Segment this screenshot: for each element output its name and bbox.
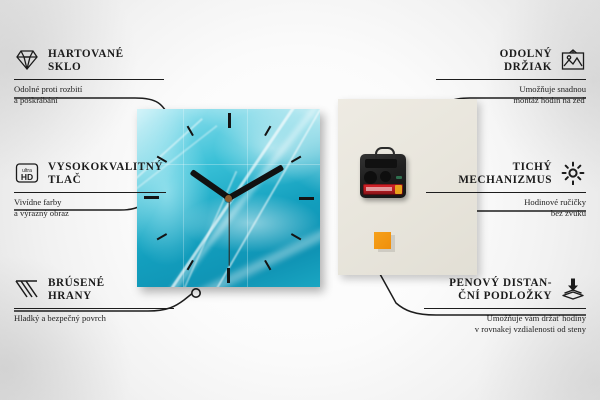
feature-foam-spacers: PENOVÝ DISTAN- ČNÍ PODLOŽKY Umožňuje vám… bbox=[424, 277, 586, 335]
feature-title: TICHÝ MECHANIZMUS bbox=[458, 161, 552, 188]
callout-dot-ground-edges bbox=[192, 289, 200, 297]
mechanism-slot bbox=[365, 159, 397, 168]
feature-silent-mechanism: TICHÝ MECHANIZMUS Hodinové ručičky bez z… bbox=[426, 161, 586, 219]
feature-subtitle: Hladký a bezpečný povrch bbox=[14, 313, 174, 324]
feature-high-quality-print: ultra HDVYSOKOKVALITNÝ TLAČVivídne farby… bbox=[14, 161, 166, 219]
picture-frame-icon bbox=[560, 48, 586, 72]
feather-streak bbox=[151, 109, 320, 287]
feature-title: PENOVÝ DISTAN- ČNÍ PODLOŽKY bbox=[449, 277, 552, 304]
clock-mechanism bbox=[360, 154, 406, 198]
battery-label bbox=[366, 187, 392, 191]
feature-divider bbox=[424, 308, 586, 309]
diamond-icon bbox=[14, 48, 40, 72]
feature-divider bbox=[14, 79, 164, 80]
feature-durable-holder: ODOLNÝ DRŽIAK Umožňuje snadnou montáž ho… bbox=[436, 48, 586, 106]
feature-subtitle: Hodinové ručičky bez zvuku bbox=[426, 197, 586, 219]
feature-subtitle: Umožňuje vám držať hodiny v rovnakej vzd… bbox=[424, 313, 586, 335]
foam-spacer-pad bbox=[374, 232, 391, 249]
mechanism-led bbox=[396, 176, 402, 179]
feature-divider bbox=[426, 192, 586, 193]
feature-subtitle: Vivídne farby a výrazný obraz bbox=[14, 197, 166, 219]
mechanism-knob bbox=[364, 171, 377, 184]
feature-title: VYSOKOKVALITNÝ TLAČ bbox=[48, 161, 163, 188]
feature-title: ODOLNÝ DRŽIAK bbox=[500, 48, 552, 75]
feature-header: ODOLNÝ DRŽIAK bbox=[436, 48, 586, 75]
feature-ground-edges: BRÚSENÉ HRANYHladký a bezpečný povrch bbox=[14, 277, 174, 324]
ground-edges-icon bbox=[14, 277, 40, 301]
feature-header: PENOVÝ DISTAN- ČNÍ PODLOŽKY bbox=[424, 277, 586, 304]
panel-seam bbox=[183, 109, 184, 287]
ultra-hd-icon: ultra HD bbox=[14, 161, 40, 185]
feature-header: BRÚSENÉ HRANY bbox=[14, 277, 174, 304]
clock-center-cap bbox=[225, 195, 232, 202]
battery bbox=[363, 184, 403, 195]
feature-header: ultra HDVYSOKOKVALITNÝ TLAČ bbox=[14, 161, 166, 188]
clock-hour-hand bbox=[189, 169, 230, 200]
feature-title: BRÚSENÉ HRANY bbox=[48, 277, 105, 304]
feature-divider bbox=[14, 308, 174, 309]
feature-title: HARTOVANÉ SKLO bbox=[48, 48, 124, 75]
svg-text:HD: HD bbox=[21, 172, 33, 182]
feature-header: HARTOVANÉ SKLO bbox=[14, 48, 164, 75]
feature-tempered-glass: HARTOVANÉ SKLOOdolné proti rozbití a poš… bbox=[14, 48, 164, 106]
feature-divider bbox=[436, 79, 586, 80]
feature-subtitle: Odolné proti rozbití a poškrábání bbox=[14, 84, 164, 106]
feature-header: TICHÝ MECHANIZMUS bbox=[426, 161, 586, 188]
battery-plus-terminal bbox=[395, 185, 402, 194]
stacked-layers-arrow-icon bbox=[560, 277, 586, 301]
mechanism-knob bbox=[380, 171, 391, 182]
clock-second-hand bbox=[228, 198, 229, 266]
infographic-canvas: HARTOVANÉ SKLOOdolné proti rozbití a poš… bbox=[0, 0, 600, 400]
feature-subtitle: Umožňuje snadnou montáž hodin na zeď bbox=[436, 84, 586, 106]
panel-seam bbox=[247, 109, 248, 287]
feature-divider bbox=[14, 192, 166, 193]
gear-icon bbox=[560, 161, 586, 185]
